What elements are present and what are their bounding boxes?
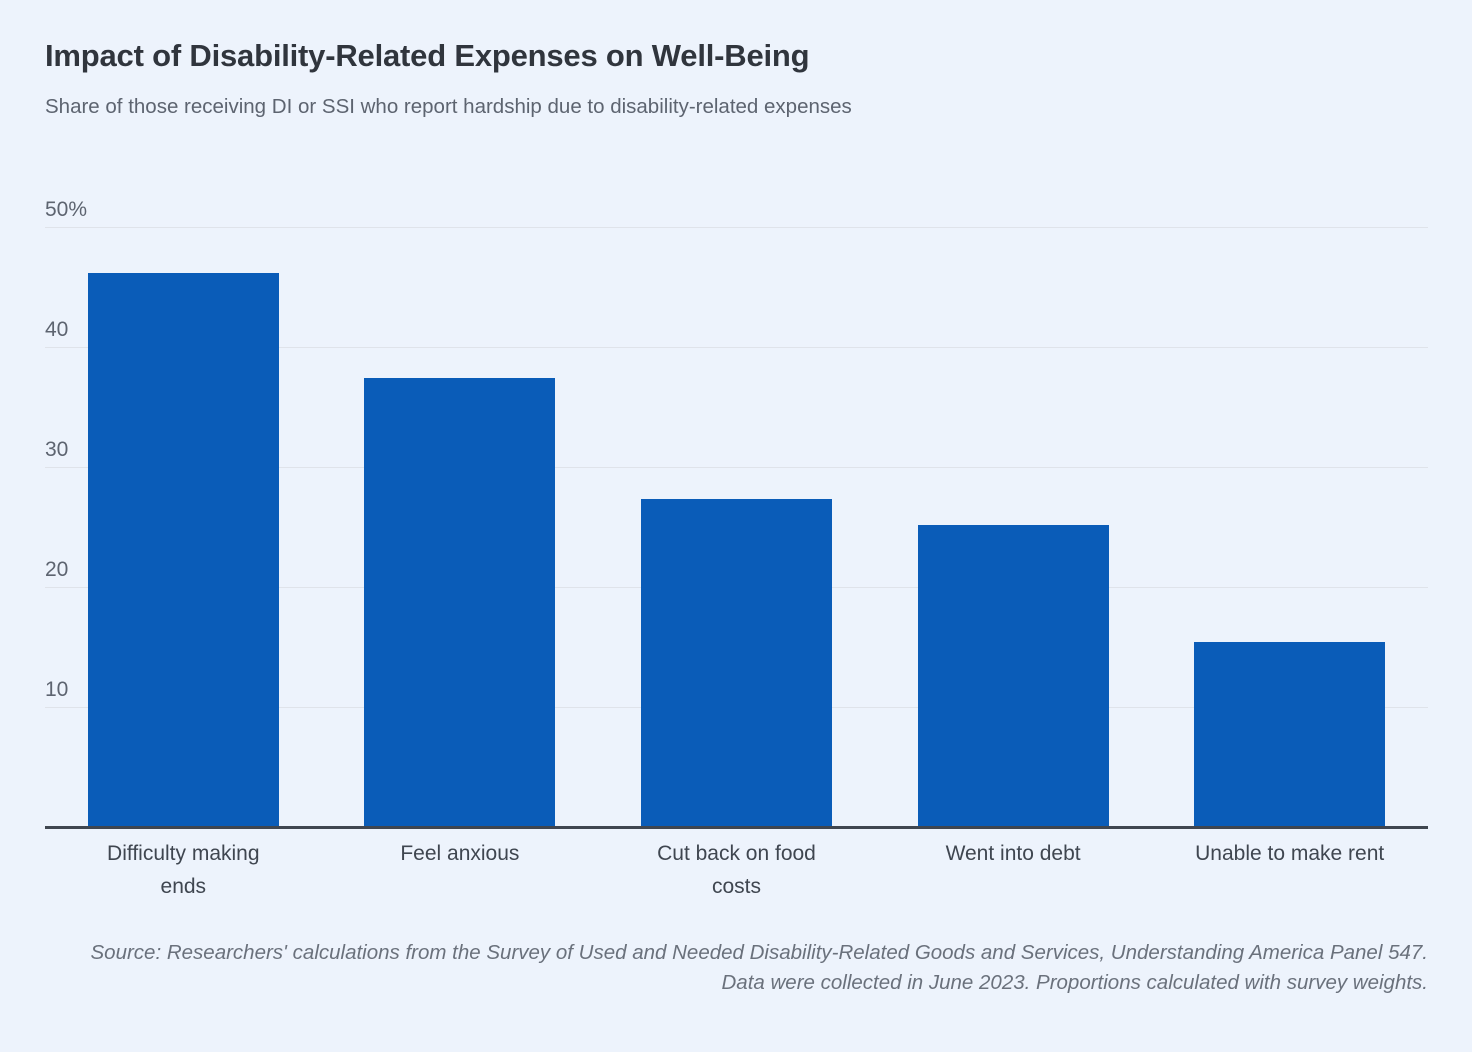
- bar-series: [45, 227, 1428, 827]
- x-axis-tick-label: Difficulty makingends: [45, 838, 322, 903]
- x-axis-tick-label-line: costs: [598, 871, 875, 904]
- chart-header: Impact of Disability-Related Expenses on…: [45, 38, 1425, 120]
- bar[interactable]: [1194, 642, 1385, 827]
- x-axis-tick-label-line: Feel anxious: [322, 838, 599, 871]
- y-axis-tick-label: 50%: [45, 199, 87, 220]
- x-axis-tick-label-line: Cut back on food: [598, 838, 875, 871]
- plot-area: 50%40302010: [45, 227, 1428, 827]
- x-axis-tick-label-line: ends: [45, 871, 322, 904]
- x-axis-line: [45, 826, 1428, 829]
- x-axis-tick-label: Unable to make rent: [1151, 838, 1428, 871]
- x-axis-tick-label: Went into debt: [875, 838, 1152, 871]
- page-title: Impact of Disability-Related Expenses on…: [45, 38, 1425, 74]
- bar[interactable]: [88, 273, 279, 827]
- bar[interactable]: [918, 525, 1109, 827]
- bar[interactable]: [364, 378, 555, 827]
- bar[interactable]: [641, 499, 832, 827]
- x-axis-tick-label-line: Unable to make rent: [1151, 838, 1428, 871]
- chart-subtitle: Share of those receiving DI or SSI who r…: [45, 94, 1425, 121]
- source-note: Source: Researchers' calculations from t…: [45, 938, 1428, 997]
- chart-figure: Impact of Disability-Related Expenses on…: [0, 0, 1472, 1052]
- x-axis-tick-label-line: Difficulty making: [45, 838, 322, 871]
- x-axis-tick-label-line: Went into debt: [875, 838, 1152, 871]
- x-axis-tick-label: Feel anxious: [322, 838, 599, 871]
- x-axis-tick-labels: Difficulty makingendsFeel anxiousCut bac…: [45, 838, 1428, 918]
- x-axis-tick-label: Cut back on foodcosts: [598, 838, 875, 903]
